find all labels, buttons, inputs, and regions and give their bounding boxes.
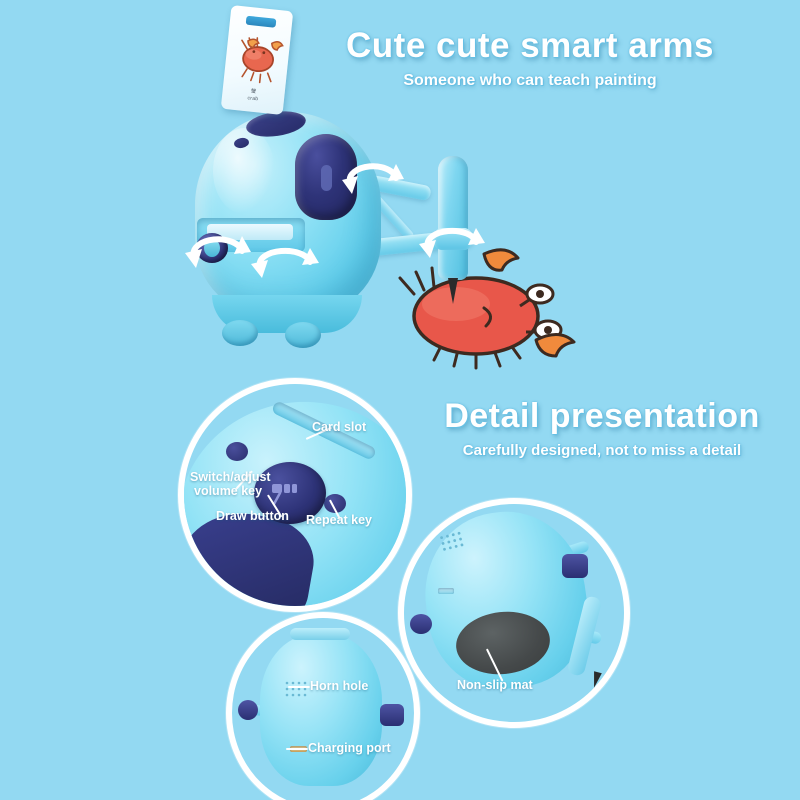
robot-body	[195, 112, 381, 317]
product-marketing-image: Cute cute smart arms Someone who can tea…	[0, 0, 800, 800]
leader-horn-hole	[288, 686, 310, 688]
robot-rear-shell	[260, 634, 382, 786]
label-volume-key-line2: volume key	[194, 484, 262, 498]
leader-charging-port	[286, 748, 308, 750]
robot-side-knob	[196, 233, 228, 263]
detail-subtitle: Carefully designed, not to miss a detail	[412, 441, 792, 461]
robot-pen-collar	[434, 228, 472, 250]
detail-circle-bottom-view	[398, 498, 630, 728]
arm-knob-left	[238, 700, 258, 720]
robot-visor-eye	[295, 134, 357, 220]
detail-title: Detail presentation	[412, 396, 792, 436]
label-card-slot: Card slot	[312, 420, 366, 434]
label-charging-port: Charging port	[308, 741, 391, 755]
label-draw-button: Draw button	[216, 509, 289, 523]
arm-knob	[562, 554, 588, 578]
label-volume-key: Switch/adjust	[190, 470, 271, 484]
robot-wheel-left	[222, 320, 258, 346]
pen-tip-detail	[590, 671, 602, 688]
detail-heading-block: Detail presentation Carefully designed, …	[412, 396, 792, 461]
card-caption: 蟹 crab	[222, 86, 285, 106]
hero-heading-block: Cute cute smart arms Someone who can tea…	[320, 26, 740, 92]
page-subtitle: Someone who can teach painting	[320, 70, 740, 92]
page-title: Cute cute smart arms	[320, 26, 740, 66]
pencil-icon	[268, 478, 312, 506]
label-non-slip-mat: Non-slip mat	[457, 678, 533, 692]
arm-knob-right	[380, 704, 404, 726]
volume-key-detail	[226, 442, 248, 461]
robot-pen-holder	[438, 156, 468, 280]
side-knob	[410, 614, 432, 634]
label-horn-hole: Horn hole	[310, 679, 368, 693]
picture-card: 蟹 crab	[221, 5, 294, 115]
crab-drawing	[380, 240, 580, 370]
label-repeat-key: Repeat key	[306, 513, 372, 527]
robot-pen-tip	[448, 278, 458, 304]
hero-product-illustration: 蟹 crab	[150, 90, 610, 380]
card-crab-icon	[223, 21, 291, 89]
robot-wheel-right	[285, 322, 321, 348]
detail-circle-rear-view	[226, 612, 420, 800]
charging-port-detail	[438, 588, 454, 594]
robot-top-cap	[290, 628, 350, 640]
horn-hole-icon	[284, 680, 308, 702]
